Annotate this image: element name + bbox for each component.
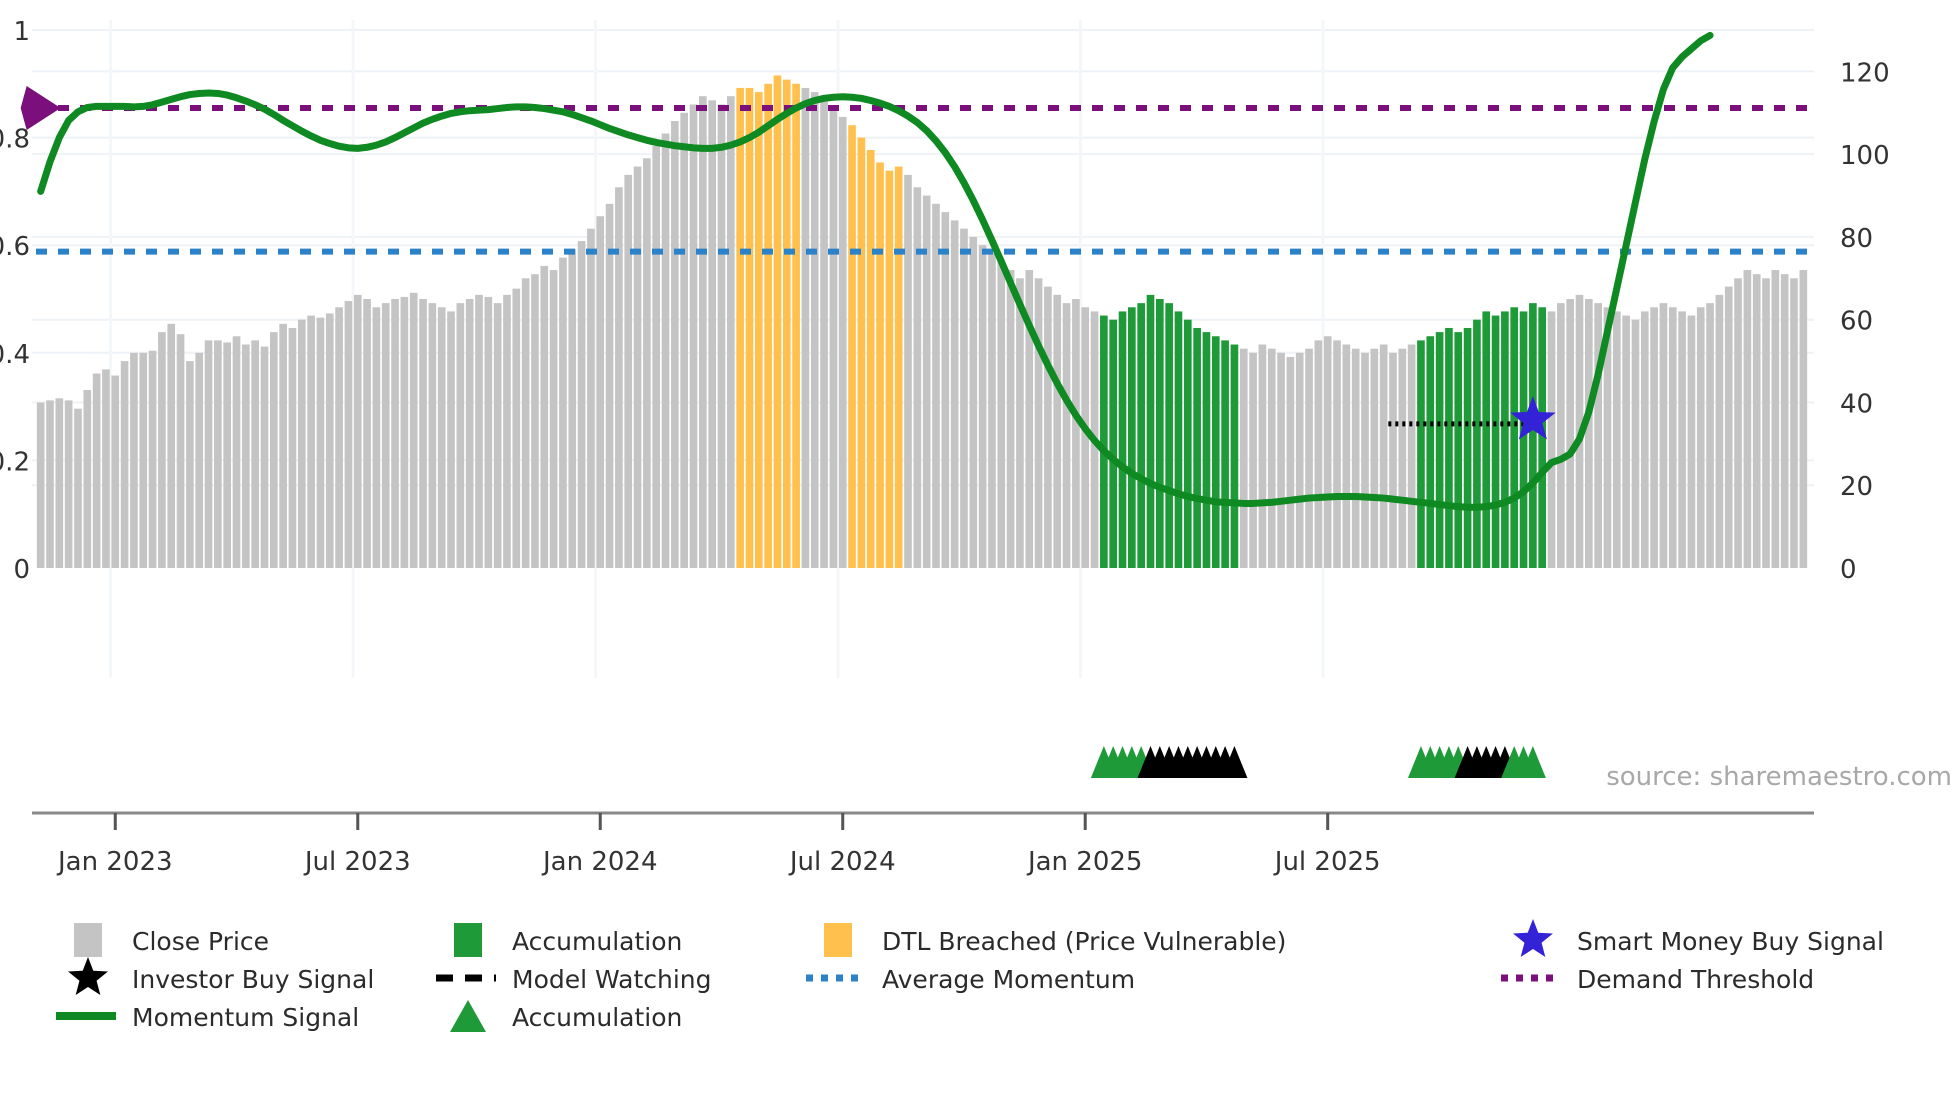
- x-axis-tick-label: Jul 2023: [303, 847, 411, 877]
- close-price-bar[interactable]: [1315, 340, 1323, 568]
- financial-momentum-chart: 00.20.40.60.81020406080100120Jan 2023Jul…: [0, 0, 1960, 1102]
- close-price-bar[interactable]: [988, 253, 996, 568]
- close-price-bar[interactable]: [326, 313, 334, 568]
- close-price-bar[interactable]: [615, 187, 623, 568]
- close-price-bar[interactable]: [167, 324, 175, 568]
- close-price-bar[interactable]: [37, 402, 45, 568]
- close-price-bar[interactable]: [997, 262, 1005, 568]
- close-price-bar[interactable]: [1585, 299, 1593, 568]
- dtl-breached-bar[interactable]: [886, 171, 894, 568]
- close-price-bar[interactable]: [419, 299, 427, 568]
- y-axis-right-tick-label: 20: [1840, 472, 1873, 502]
- dtl-breached-bar[interactable]: [848, 125, 856, 568]
- dtl-breached-bar[interactable]: [783, 80, 791, 568]
- close-price-bar[interactable]: [121, 361, 129, 568]
- close-price-bar[interactable]: [512, 289, 520, 568]
- close-price-bar[interactable]: [1352, 349, 1360, 568]
- dtl-breached-bar[interactable]: [858, 138, 866, 568]
- legend-label: Demand Threshold: [1577, 965, 1814, 994]
- close-price-bar[interactable]: [1669, 307, 1677, 568]
- dtl-breached-bar[interactable]: [746, 88, 754, 568]
- legend-label: DTL Breached (Price Vulnerable): [882, 927, 1286, 956]
- dtl-breached-bar[interactable]: [876, 162, 884, 568]
- close-price-bar[interactable]: [643, 158, 651, 568]
- accumulation-bar[interactable]: [1520, 311, 1528, 568]
- close-price-bar[interactable]: [1389, 353, 1397, 568]
- close-price-bar[interactable]: [373, 307, 381, 568]
- close-price-bar[interactable]: [718, 104, 726, 568]
- accumulation-bar[interactable]: [1212, 336, 1220, 568]
- dtl-breached-bar[interactable]: [736, 88, 744, 568]
- accumulation-bar[interactable]: [1464, 328, 1472, 568]
- close-price-bar[interactable]: [830, 109, 838, 568]
- chart-canvas: 00.20.40.60.81020406080100120Jan 2023Jul…: [0, 0, 1960, 1102]
- close-price-bar[interactable]: [410, 293, 418, 568]
- y-axis-right-tick-label: 100: [1840, 141, 1890, 171]
- legend-label: Investor Buy Signal: [132, 965, 374, 994]
- close-price-bar[interactable]: [111, 376, 119, 568]
- accumulation-bar[interactable]: [1473, 320, 1481, 568]
- close-price-bar[interactable]: [93, 373, 101, 568]
- legend-swatch-icon: [454, 923, 482, 957]
- y-axis-left-tick-label: 0: [13, 555, 30, 585]
- legend-label: Smart Money Buy Signal: [1577, 927, 1884, 956]
- accumulation-bar[interactable]: [1529, 303, 1537, 568]
- close-price-bar[interactable]: [559, 258, 567, 568]
- close-price-bar[interactable]: [1641, 311, 1649, 568]
- accumulation-bar[interactable]: [1109, 320, 1117, 568]
- accumulation-bar[interactable]: [1203, 332, 1211, 568]
- close-price-bar[interactable]: [1734, 278, 1742, 568]
- close-price-bar[interactable]: [568, 249, 576, 568]
- close-price-bar[interactable]: [671, 121, 679, 568]
- close-price-bar[interactable]: [345, 301, 353, 568]
- close-price-bar[interactable]: [149, 351, 157, 568]
- close-price-bar[interactable]: [1072, 299, 1080, 568]
- dtl-breached-bar[interactable]: [895, 167, 903, 568]
- accumulation-bar[interactable]: [1175, 311, 1183, 568]
- close-price-bar[interactable]: [401, 297, 409, 568]
- close-price-bar[interactable]: [680, 113, 688, 568]
- close-price-bar[interactable]: [466, 299, 474, 568]
- close-price-bar[interactable]: [1016, 278, 1024, 568]
- close-price-bar[interactable]: [624, 175, 632, 568]
- close-price-bar[interactable]: [1277, 353, 1285, 568]
- close-price-bar[interactable]: [1268, 349, 1276, 568]
- y-axis-left-tick-label: 1: [13, 17, 30, 47]
- accumulation-bar[interactable]: [1482, 311, 1490, 568]
- close-price-bar[interactable]: [1324, 336, 1332, 568]
- close-price-bar[interactable]: [914, 187, 922, 568]
- dtl-breached-bar[interactable]: [764, 84, 772, 568]
- close-price-bar[interactable]: [1007, 270, 1015, 568]
- close-price-bar[interactable]: [1333, 340, 1341, 568]
- dtl-breached-bar[interactable]: [774, 76, 782, 568]
- y-axis-left-tick-label: 0.8: [0, 125, 30, 155]
- close-price-bar[interactable]: [951, 220, 959, 568]
- close-price-bar[interactable]: [587, 229, 595, 568]
- accumulation-bar[interactable]: [1231, 345, 1239, 568]
- accumulation-bar[interactable]: [1436, 332, 1444, 568]
- close-price-bar[interactable]: [1716, 295, 1724, 568]
- close-price-bar[interactable]: [1772, 270, 1780, 568]
- close-price-bar[interactable]: [634, 167, 642, 568]
- close-price-bar[interactable]: [1566, 299, 1574, 568]
- legend-swatch-icon: [824, 923, 852, 957]
- y-axis-right-tick-label: 60: [1840, 307, 1873, 337]
- source-attribution: source: sharemaestro.com: [1606, 762, 1952, 792]
- close-price-bar[interactable]: [652, 146, 660, 568]
- close-price-bar[interactable]: [494, 303, 502, 568]
- close-price-bar[interactable]: [1790, 278, 1798, 568]
- close-price-bar[interactable]: [979, 245, 987, 568]
- close-price-bar[interactable]: [1249, 353, 1257, 568]
- close-price-bar[interactable]: [578, 241, 586, 568]
- close-price-bar[interactable]: [969, 237, 977, 568]
- close-price-bar[interactable]: [839, 117, 847, 568]
- legend-label: Accumulation: [512, 927, 682, 956]
- close-price-bar[interactable]: [708, 100, 716, 568]
- close-price-bar[interactable]: [1053, 295, 1061, 568]
- close-price-bar[interactable]: [1557, 303, 1565, 568]
- accumulation-bar[interactable]: [1137, 303, 1145, 568]
- legend-label: Momentum Signal: [132, 1003, 359, 1032]
- close-price-bar[interactable]: [1343, 345, 1351, 568]
- accumulation-bar[interactable]: [1193, 328, 1201, 568]
- close-price-bar[interactable]: [74, 409, 82, 568]
- close-price-bar[interactable]: [1305, 349, 1313, 568]
- close-price-bar[interactable]: [261, 347, 269, 568]
- accumulation-bar[interactable]: [1128, 307, 1136, 568]
- y-axis-right-tick-label: 120: [1840, 58, 1890, 88]
- close-price-bar[interactable]: [55, 398, 63, 568]
- accumulation-bar[interactable]: [1119, 311, 1127, 568]
- x-axis-tick-label: Jan 2024: [541, 847, 658, 877]
- close-price-bar[interactable]: [1408, 345, 1416, 568]
- close-price-bar[interactable]: [540, 266, 548, 568]
- close-price-bar[interactable]: [298, 320, 306, 568]
- legend-dtl-breached[interactable]: DTL Breached (Price Vulnerable): [824, 923, 1286, 957]
- close-price-bar[interactable]: [65, 400, 73, 568]
- close-price-bar[interactable]: [1035, 278, 1043, 568]
- legend-swatch-icon: [74, 923, 102, 957]
- close-price-bar[interactable]: [1240, 349, 1248, 568]
- accumulation-bar[interactable]: [1454, 332, 1462, 568]
- close-price-bar[interactable]: [46, 400, 54, 568]
- close-price-bar[interactable]: [485, 297, 493, 568]
- close-price-bar[interactable]: [1781, 274, 1789, 568]
- close-price-bar[interactable]: [83, 390, 91, 568]
- close-price-bar[interactable]: [177, 334, 185, 568]
- close-price-bar[interactable]: [354, 295, 362, 568]
- close-price-bar[interactable]: [1725, 287, 1733, 568]
- accumulation-bar[interactable]: [1184, 320, 1192, 568]
- y-axis-left-tick-label: 0.2: [0, 447, 30, 477]
- close-price-bar[interactable]: [1594, 303, 1602, 568]
- x-axis-tick-label: Jul 2024: [788, 847, 896, 877]
- close-price-bar[interactable]: [214, 340, 222, 568]
- accumulation-bar[interactable]: [1165, 303, 1173, 568]
- close-price-bar[interactable]: [391, 299, 399, 568]
- legend-label: Close Price: [132, 927, 269, 956]
- y-axis-left-tick-label: 0.4: [0, 340, 30, 370]
- close-price-bar[interactable]: [475, 295, 483, 568]
- close-price-bar[interactable]: [429, 303, 437, 568]
- close-price-bar[interactable]: [941, 212, 949, 568]
- close-price-bar[interactable]: [1296, 353, 1304, 568]
- close-price-bar[interactable]: [233, 336, 241, 568]
- close-price-bar[interactable]: [1660, 303, 1668, 568]
- close-price-bar[interactable]: [186, 361, 194, 568]
- close-price-bar[interactable]: [1753, 274, 1761, 568]
- close-price-bar[interactable]: [531, 274, 539, 568]
- close-price-bar[interactable]: [251, 340, 259, 568]
- close-price-bar[interactable]: [1044, 287, 1052, 568]
- close-price-bar[interactable]: [335, 307, 343, 568]
- close-price-bar[interactable]: [904, 175, 912, 568]
- close-price-bar[interactable]: [1688, 316, 1696, 568]
- close-price-bar[interactable]: [195, 353, 203, 568]
- x-axis-tick-label: Jul 2025: [1273, 847, 1381, 877]
- close-price-bar[interactable]: [1548, 311, 1556, 568]
- accumulation-bar[interactable]: [1445, 328, 1453, 568]
- accumulation-bar[interactable]: [1501, 311, 1509, 568]
- close-price-bar[interactable]: [205, 340, 213, 568]
- close-price-bar[interactable]: [1697, 307, 1705, 568]
- close-price-bar[interactable]: [596, 216, 604, 568]
- close-price-bar[interactable]: [1371, 349, 1379, 568]
- close-price-bar[interactable]: [1259, 345, 1267, 568]
- close-price-bar[interactable]: [1063, 303, 1071, 568]
- y-axis-left-tick-label: 0.6: [0, 232, 30, 262]
- x-axis-tick-label: Jan 2025: [1026, 847, 1143, 877]
- dtl-breached-bar[interactable]: [755, 92, 763, 568]
- close-price-bar[interactable]: [1706, 303, 1714, 568]
- close-price-bar[interactable]: [811, 92, 819, 568]
- close-price-bar[interactable]: [102, 369, 110, 568]
- close-price-bar[interactable]: [699, 96, 707, 568]
- close-price-bar[interactable]: [1678, 311, 1686, 568]
- accumulation-bar[interactable]: [1492, 316, 1500, 568]
- close-price-bar[interactable]: [606, 204, 614, 568]
- accumulation-bar[interactable]: [1417, 340, 1425, 568]
- accumulation-bar[interactable]: [1156, 299, 1164, 568]
- close-price-bar[interactable]: [130, 353, 138, 568]
- dtl-breached-bar[interactable]: [792, 84, 800, 568]
- legend-label: Accumulation: [512, 1003, 682, 1032]
- y-axis-right-tick-label: 0: [1840, 555, 1857, 585]
- close-price-bar[interactable]: [447, 311, 455, 568]
- close-price-bar[interactable]: [1744, 270, 1752, 568]
- close-price-bar[interactable]: [1398, 349, 1406, 568]
- close-price-bar[interactable]: [158, 332, 166, 568]
- accumulation-bar[interactable]: [1147, 295, 1155, 568]
- accumulation-bar[interactable]: [1100, 316, 1108, 568]
- close-price-bar[interactable]: [223, 342, 231, 568]
- close-price-bar[interactable]: [1361, 353, 1369, 568]
- close-price-bar[interactable]: [1622, 316, 1630, 568]
- close-price-bar[interactable]: [550, 270, 558, 568]
- close-price-bar[interactable]: [727, 96, 735, 568]
- close-price-bar[interactable]: [1762, 278, 1770, 568]
- close-price-bar[interactable]: [662, 133, 670, 568]
- close-price-bar[interactable]: [1380, 345, 1388, 568]
- close-price-bar[interactable]: [1613, 311, 1621, 568]
- close-price-bar[interactable]: [932, 204, 940, 568]
- y-axis-right-tick-label: 40: [1840, 389, 1873, 419]
- close-price-bar[interactable]: [289, 328, 297, 568]
- accumulation-bar[interactable]: [1221, 340, 1229, 568]
- close-price-bar[interactable]: [317, 318, 325, 568]
- close-price-bar[interactable]: [503, 295, 511, 568]
- close-price-bar[interactable]: [279, 324, 287, 568]
- legend-label: Model Watching: [512, 965, 712, 994]
- accumulation-bar[interactable]: [1510, 307, 1518, 568]
- close-price-bar[interactable]: [270, 332, 278, 568]
- close-price-bar[interactable]: [363, 299, 371, 568]
- close-price-bar[interactable]: [690, 104, 698, 568]
- close-price-bar[interactable]: [802, 88, 810, 568]
- close-price-bar[interactable]: [307, 316, 315, 568]
- close-price-bar[interactable]: [1632, 320, 1640, 568]
- close-price-bar[interactable]: [1650, 307, 1658, 568]
- legend-label: Average Momentum: [882, 965, 1135, 994]
- close-price-bar[interactable]: [522, 278, 530, 568]
- close-price-bar[interactable]: [1287, 357, 1295, 568]
- close-price-bar[interactable]: [438, 307, 446, 568]
- close-price-bar[interactable]: [242, 345, 250, 568]
- dtl-breached-bar[interactable]: [867, 150, 875, 568]
- close-price-bar[interactable]: [382, 303, 390, 568]
- y-axis-right-tick-label: 80: [1840, 224, 1873, 254]
- x-axis-tick-label: Jan 2023: [56, 847, 173, 877]
- close-price-bar[interactable]: [1800, 270, 1808, 568]
- close-price-bar[interactable]: [820, 100, 828, 568]
- close-price-bar[interactable]: [960, 229, 968, 568]
- close-price-bar[interactable]: [457, 303, 465, 568]
- accumulation-bar[interactable]: [1426, 336, 1434, 568]
- close-price-bar[interactable]: [139, 353, 147, 568]
